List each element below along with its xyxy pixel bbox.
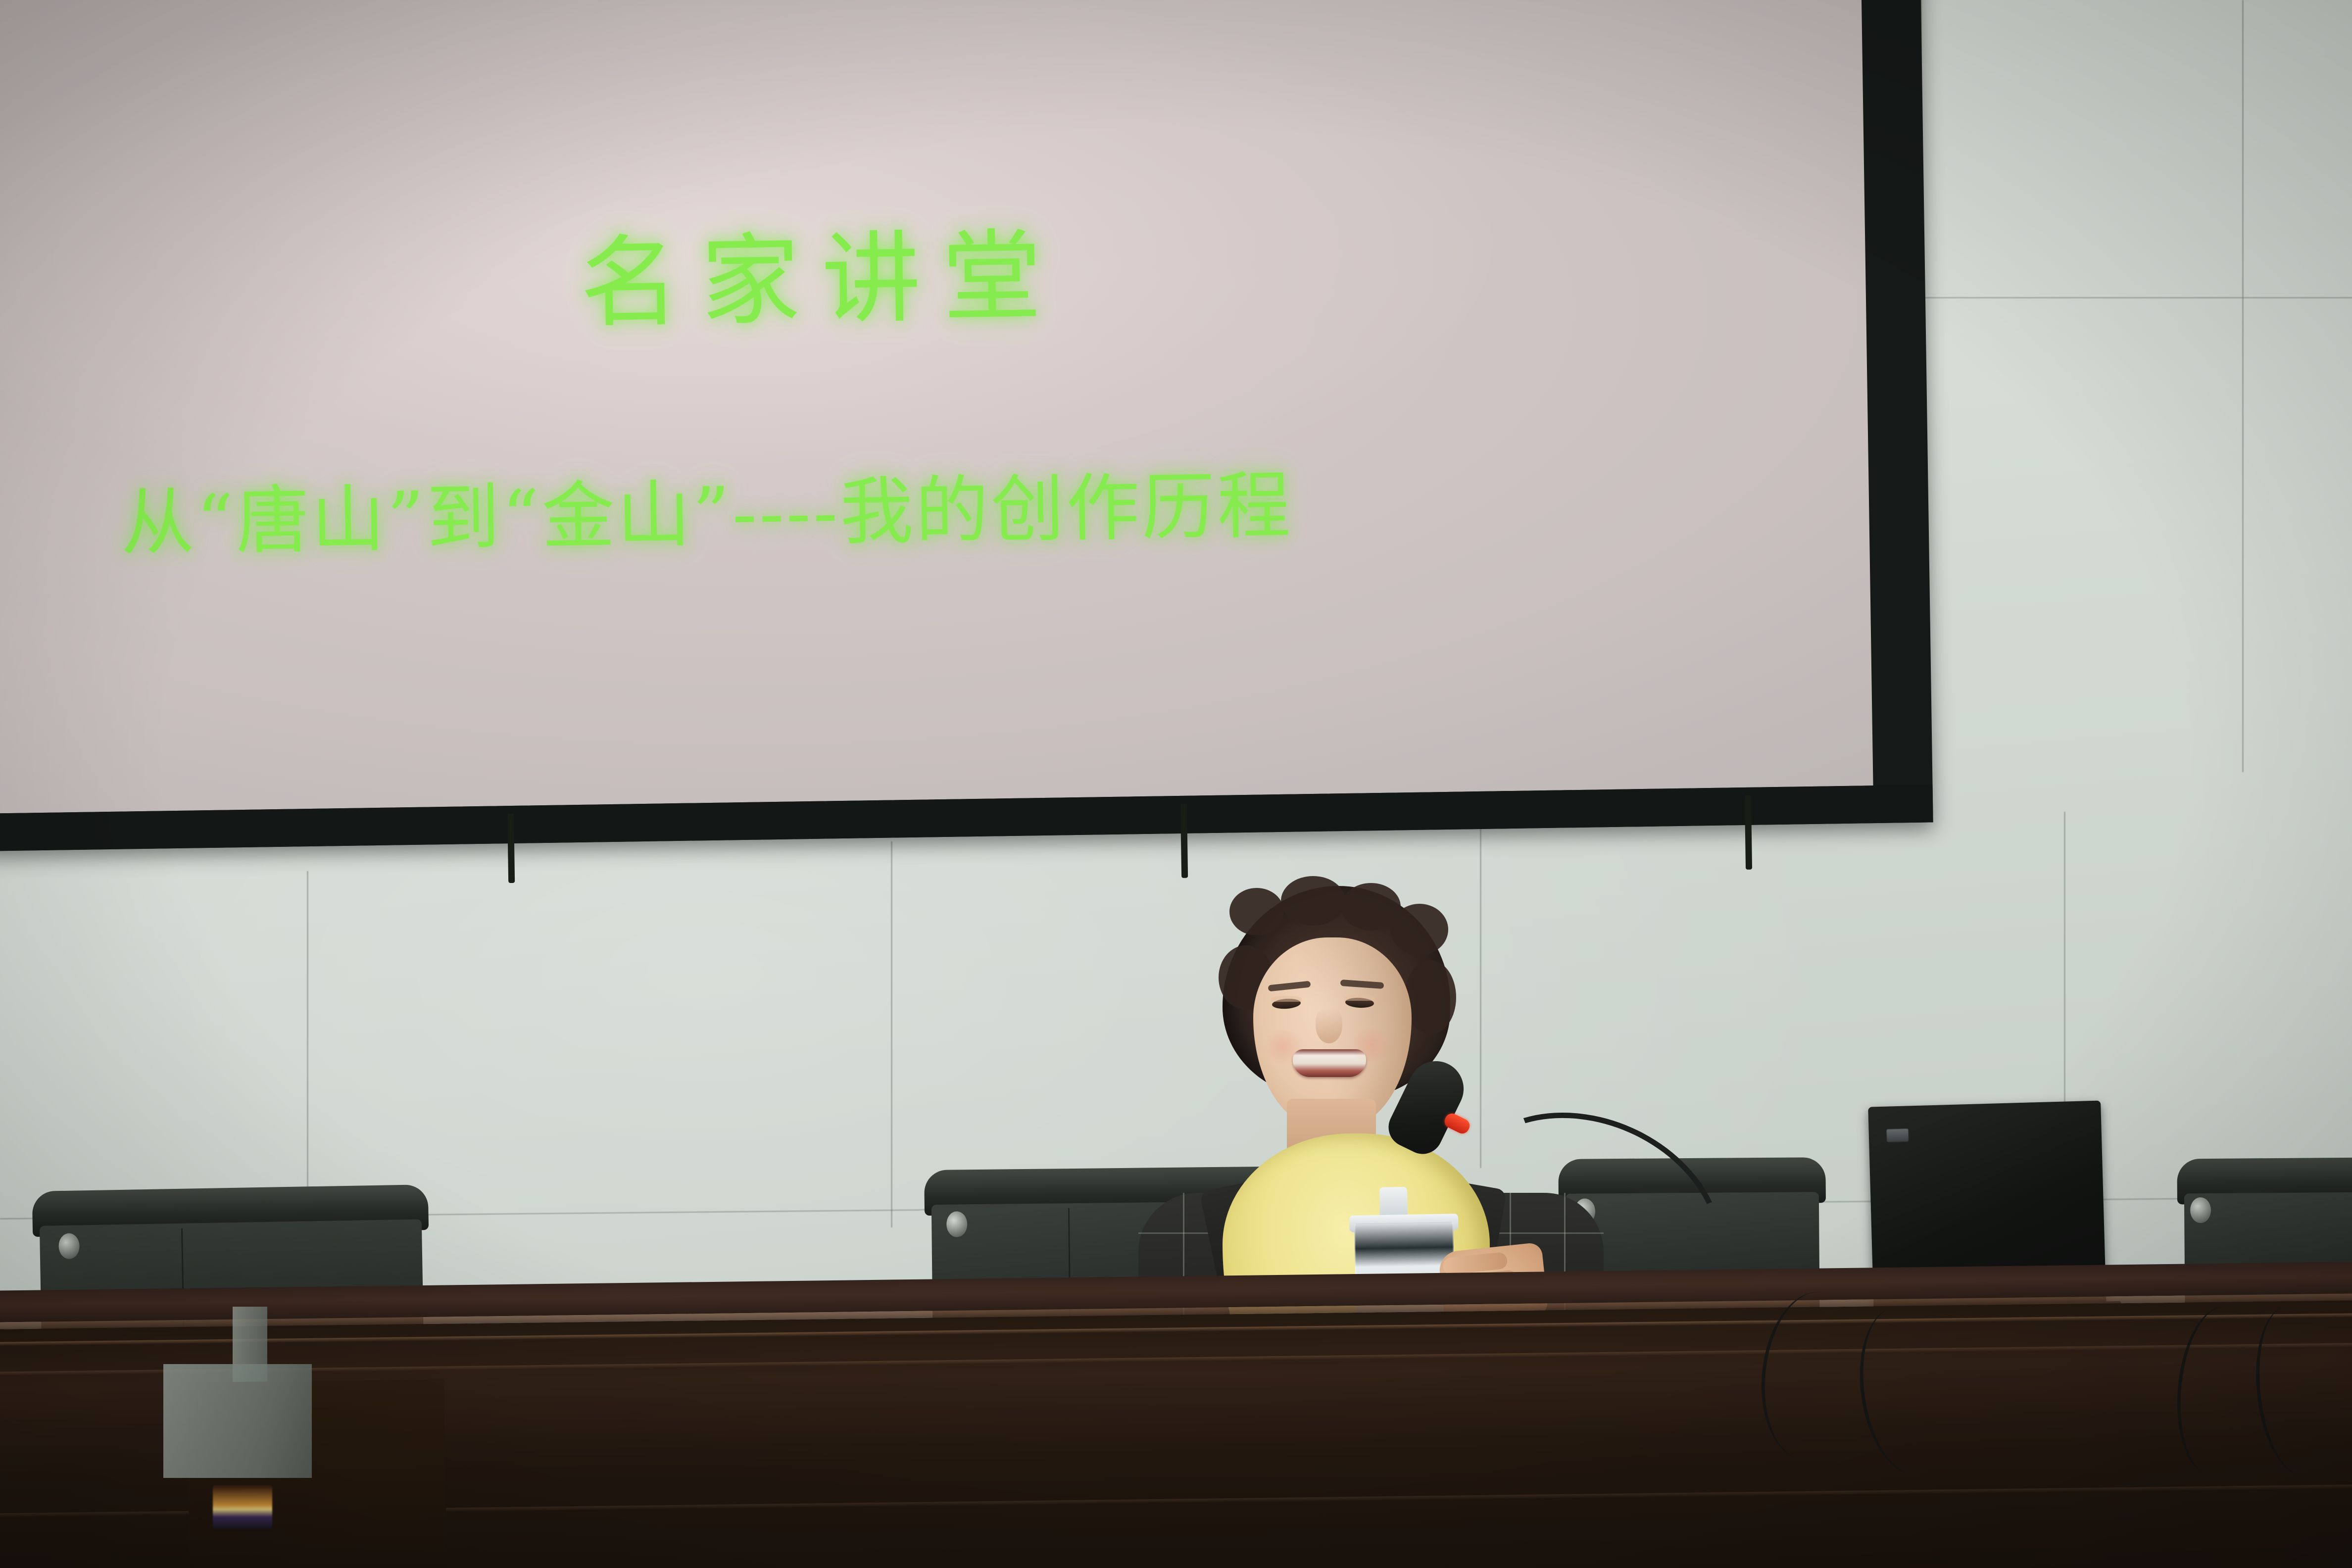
cup-spout <box>1379 1187 1408 1218</box>
wall-seam-vertical <box>2242 0 2244 772</box>
projected-subtitle: 从“唐山”到“金山”----我的创作历程 <box>120 445 1293 569</box>
screen-strap <box>507 814 515 883</box>
podium-indicator-light <box>213 1485 272 1529</box>
projected-title: 名家讲堂 <box>579 196 1064 346</box>
chair-knob <box>2190 1197 2211 1223</box>
eyelid-right <box>1344 995 1375 1001</box>
projector-screen: 名家讲堂 从“唐山”到“金山”----我的创作历程 <box>0 0 1933 851</box>
wall-seam-vertical <box>891 841 892 1227</box>
chair-knob <box>946 1211 968 1237</box>
lecture-hall-photo: 名家讲堂 从“唐山”到“金山”----我的创作历程 <box>0 0 2352 1568</box>
wall-seam-horizontal <box>1861 297 2352 298</box>
hair-curl <box>1281 876 1345 926</box>
hair-curl <box>1391 904 1448 955</box>
cheek-left <box>1259 1030 1307 1063</box>
wall-seam-vertical <box>307 871 308 1227</box>
podium-shelf <box>163 1364 312 1478</box>
screen-strap <box>1180 804 1188 878</box>
laptop-logo-icon <box>1886 1128 1909 1142</box>
eyelid-left <box>1271 996 1302 1002</box>
projector-hotspot <box>0 0 1873 813</box>
cheek-right <box>1347 1029 1395 1061</box>
nose <box>1316 1008 1342 1043</box>
microphone-red-band <box>1442 1111 1472 1136</box>
hair-curl <box>1405 960 1456 1034</box>
desk-molding <box>0 1343 2352 1376</box>
hair-curl <box>1229 888 1284 935</box>
microphone-head <box>1382 1052 1473 1161</box>
screen-strap <box>1745 795 1752 870</box>
projector-screen-surface: 名家讲堂 从“唐山”到“金山”----我的创作历程 <box>0 0 1873 813</box>
